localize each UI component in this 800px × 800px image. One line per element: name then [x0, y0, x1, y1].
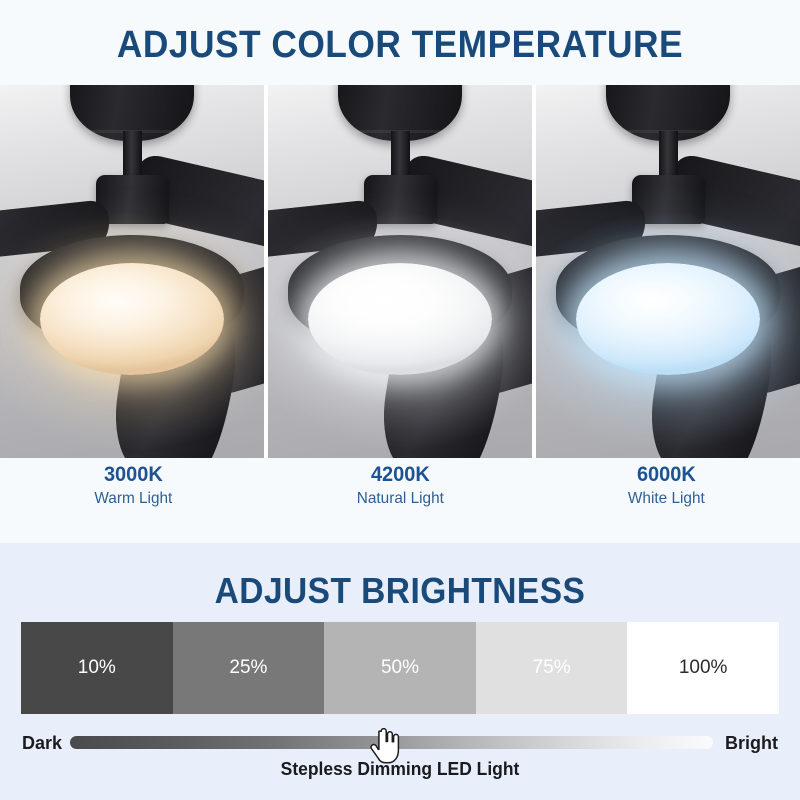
brightness-swatch-bar: 10% 25% 50% 75% 100% [21, 622, 779, 714]
slider-label-bright: Bright [725, 731, 778, 755]
brightness-swatch-label: 50% [381, 657, 419, 679]
color-temperature-heading: ADJUST COLOR TEMPERATURE [28, 23, 772, 67]
color-temperature-caption-warm: 3000K Warm Light [0, 462, 267, 510]
light-type-label: Natural Light [272, 488, 528, 510]
led-dome-natural-icon [308, 263, 492, 375]
led-dome-white-icon [576, 263, 760, 375]
fan-photo-panel-white [536, 85, 800, 458]
led-dome-warm-icon [40, 263, 224, 375]
brightness-swatch-label: 75% [533, 657, 571, 679]
color-temperature-caption-row: 3000K Warm Light 4200K Natural Light 600… [0, 462, 800, 510]
brightness-heading: ADJUST BRIGHTNESS [28, 570, 772, 612]
color-temperature-caption-white: 6000K White Light [533, 462, 800, 510]
brightness-swatch-50[interactable]: 50% [324, 622, 476, 714]
brightness-swatch-label: 10% [78, 657, 116, 679]
brightness-section: ADJUST BRIGHTNESS 10% 25% 50% 75% 100% D… [0, 543, 800, 800]
slider-label-dark: Dark [22, 731, 62, 755]
brightness-swatch-100[interactable]: 100% [627, 622, 779, 714]
brightness-swatch-75[interactable]: 75% [476, 622, 628, 714]
light-type-label: White Light [539, 488, 795, 510]
kelvin-value: 4200K [273, 462, 526, 488]
color-temperature-caption-natural: 4200K Natural Light [267, 462, 534, 510]
light-type-label: Warm Light [5, 488, 261, 510]
dimming-slider-row: Dark Bright [0, 728, 800, 758]
stepless-dimming-caption: Stepless Dimming LED Light [12, 757, 788, 781]
color-temperature-panel-row [0, 85, 800, 458]
fan-photo-panel-warm [0, 85, 264, 458]
fan-photo-panel-natural [268, 85, 532, 458]
product-infographic: ADJUST COLOR TEMPERATURE [0, 0, 800, 800]
brightness-swatch-25[interactable]: 25% [173, 622, 325, 714]
kelvin-value: 6000K [540, 462, 793, 488]
brightness-swatch-label: 25% [229, 657, 267, 679]
kelvin-value: 3000K [7, 462, 260, 488]
brightness-swatch-10[interactable]: 10% [21, 622, 173, 714]
color-temperature-section: ADJUST COLOR TEMPERATURE [0, 0, 800, 543]
brightness-swatch-label: 100% [679, 657, 728, 679]
